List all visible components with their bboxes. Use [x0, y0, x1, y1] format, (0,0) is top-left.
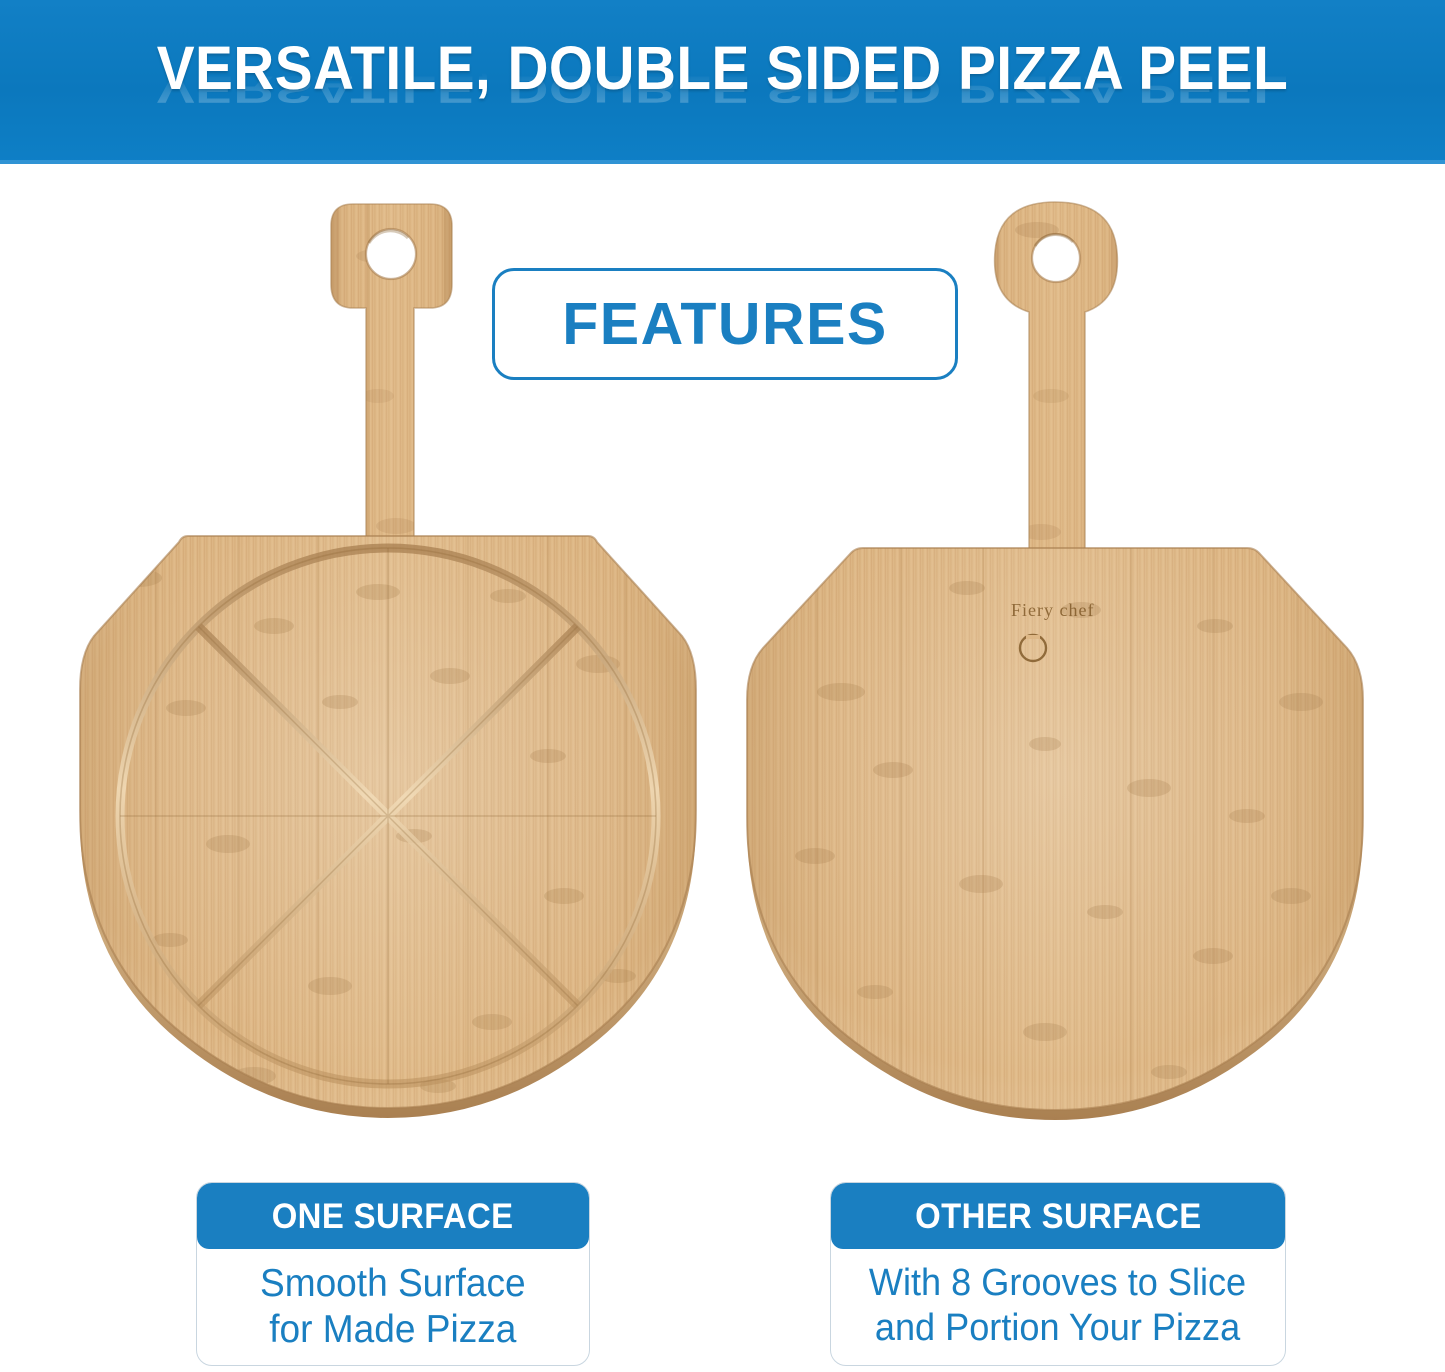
caption-body-label: Smooth Surface for Made Pizza: [260, 1261, 526, 1353]
caption-card-other-surface: OTHER SURFACE With 8 Grooves to Slice an…: [830, 1182, 1286, 1366]
brand-mark-label: Fiery chef: [1011, 600, 1094, 620]
caption-card-one-surface: ONE SURFACE Smooth Surface for Made Pizz…: [196, 1182, 590, 1366]
banner-title: VERSATILE, DOUBLE SIDED PIZZA PEEL: [51, 38, 1395, 99]
caption-body-one-surface: Smooth Surface for Made Pizza: [197, 1249, 589, 1365]
caption-body-label: With 8 Grooves to Slice and Portion Your…: [869, 1261, 1246, 1351]
peel-board-face: [745, 536, 1365, 1136]
caption-body-other-surface: With 8 Grooves to Slice and Portion Your…: [831, 1249, 1285, 1365]
caption-heading-label: OTHER SURFACE: [915, 1199, 1201, 1234]
caption-header-other-surface: OTHER SURFACE: [831, 1183, 1285, 1249]
banner-underline: [0, 160, 1445, 164]
caption-heading-label: ONE SURFACE: [272, 1199, 514, 1234]
caption-header-one-surface: ONE SURFACE: [197, 1183, 589, 1249]
peel-handle: [985, 196, 1125, 566]
header-banner: VERSATILE, DOUBLE SIDED PIZZA PEEL VERSA…: [0, 0, 1445, 163]
features-badge-label: FEATURES: [562, 295, 888, 354]
features-badge: FEATURES: [492, 268, 958, 380]
peel-handle: [331, 196, 452, 556]
